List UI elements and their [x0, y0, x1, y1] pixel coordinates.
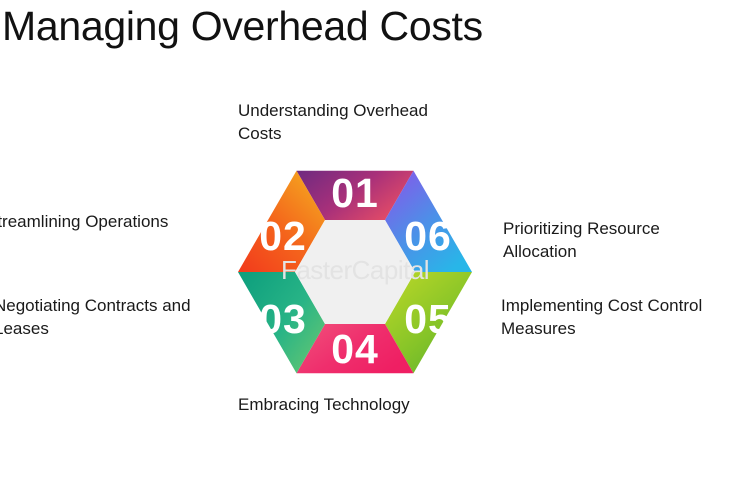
segment-label-06: Prioritizing Resource Allocation: [503, 217, 739, 263]
segment-number-06: 06: [404, 213, 452, 259]
segment-number-04: 04: [331, 326, 379, 372]
segment-label-05: Implementing Cost Control Measures: [501, 294, 740, 340]
hexagon-diagram-svg: 01 06 05 04 03 02: [238, 155, 472, 389]
segment-label-03: Negotiating Contracts and Leases: [0, 294, 244, 340]
segment-number-05: 05: [404, 296, 452, 342]
hexagon-infographic: 01 06 05 04 03 02 FasterCapital Understa…: [0, 0, 740, 500]
segment-label-01: Understanding Overhead Costs: [238, 99, 488, 145]
segment-number-02: 02: [259, 213, 307, 259]
segment-number-01: 01: [331, 170, 379, 216]
segment-label-02: Streamlining Operations: [0, 210, 216, 233]
segment-number-03: 03: [259, 296, 307, 342]
segment-label-04: Embracing Technology: [238, 393, 498, 416]
